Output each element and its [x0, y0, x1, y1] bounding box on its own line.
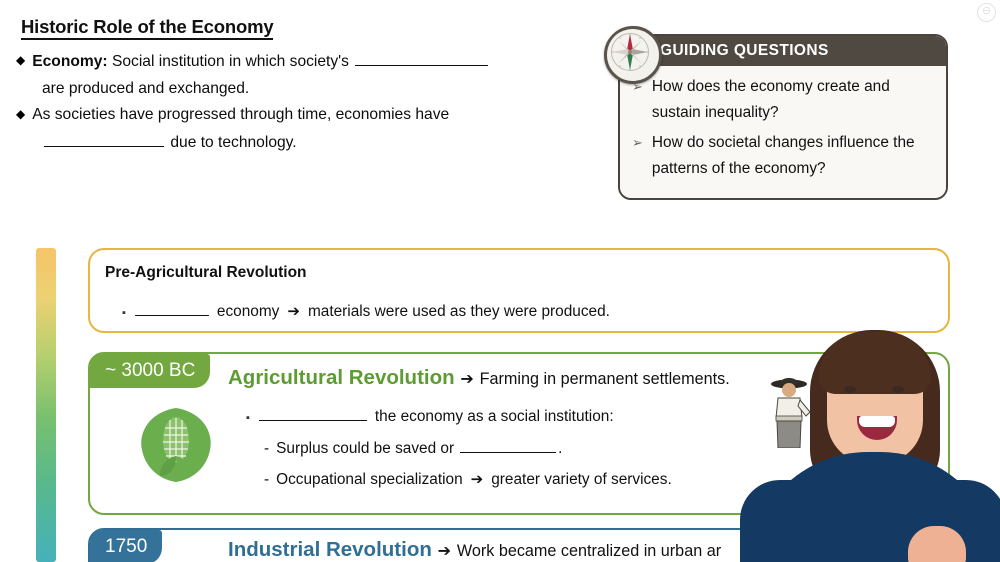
lead-bullet-list: ◆ Economy: Social institution in which s…: [16, 50, 571, 159]
agri-line-specialization-text: Occupational specialization: [276, 471, 463, 489]
diamond-bullet-icon: ◆: [16, 50, 25, 70]
arrow-icon: ➔: [438, 542, 452, 560]
guiding-questions-header: GUIDING QUESTIONS: [620, 36, 946, 66]
agri-line-institution-text: the economy as a social institution:: [375, 408, 614, 426]
lead-item-progress-text: As societies have progressed through tim…: [32, 104, 571, 127]
agri-line-specialization: - Occupational specialization ➔ greater …: [246, 470, 766, 489]
square-bullet-icon: ▪: [122, 307, 126, 319]
agri-line-institution: ▪ the economy as a social institution:: [246, 405, 766, 426]
lead-item-economy-continuation: are produced and exchanged.: [16, 78, 571, 101]
slide-canvas: ⊖ Historic Role of the Economy ◆ Economy…: [0, 0, 1000, 562]
lead-item-economy-text: Economy: Social institution in which soc…: [32, 50, 571, 74]
era-lead-industrial: Work became centralized in urban ar: [457, 542, 721, 560]
guiding-questions-body: ➢ How does the economy create and sustai…: [620, 66, 946, 198]
economy-term-label: Economy:: [32, 53, 107, 70]
era-lead-agricultural: Farming in permanent settlements.: [480, 370, 730, 388]
lead-item-progress: ◆ As societies have progressed through t…: [16, 104, 571, 127]
fill-blank-3[interactable]: [135, 300, 209, 316]
page-title: Historic Role of the Economy: [21, 17, 273, 40]
corn-wreath-icon: [130, 396, 222, 488]
guiding-question-text: How does the economy create and sustain …: [652, 74, 934, 127]
guiding-question-item: ➢ How does the economy create and sustai…: [632, 74, 934, 127]
lead-item-progress-tail: due to technology.: [170, 134, 296, 151]
fill-blank-2[interactable]: [44, 131, 164, 147]
agri-line-surplus: - Surplus could be saved or .: [246, 438, 766, 459]
pre-agri-line-text: economy: [217, 303, 279, 321]
arrow-icon: ➔: [287, 302, 300, 320]
arrow-icon: ➔: [460, 370, 474, 388]
pre-agri-line-tail: materials were used as they were produce…: [308, 303, 610, 321]
square-bullet-icon: ▪: [246, 412, 250, 424]
timeline-gradient-bar: [36, 248, 56, 562]
era-title-pre-agricultural: Pre-Agricultural Revolution: [105, 264, 307, 282]
agri-line-surplus-text: Surplus could be saved or: [276, 440, 454, 458]
circle-badge-icon[interactable]: ⊖: [977, 3, 996, 22]
arrow-icon: ➔: [471, 470, 484, 488]
economy-definition-text: Social institution in which society's: [112, 53, 349, 70]
era-heading-agricultural: Agricultural Revolution ➔ Farming in per…: [228, 368, 730, 389]
era-lines-agricultural: ▪ the economy as a social institution: -…: [246, 405, 766, 501]
agri-line-specialization-tail: greater variety of services.: [491, 471, 671, 489]
fill-blank-1[interactable]: [355, 50, 488, 66]
lead-item-progress-continuation: due to technology.: [16, 131, 571, 155]
compass-icon: [604, 26, 662, 84]
era-title-industrial: Industrial Revolution: [228, 538, 432, 561]
era-bullet-pre-agricultural: ▪ economy ➔ materials were used as they …: [122, 300, 610, 321]
guiding-question-item: ➢ How do societal changes influence the …: [632, 130, 934, 183]
lead-item-economy: ◆ Economy: Social institution in which s…: [16, 50, 571, 74]
diamond-bullet-icon: ◆: [16, 104, 25, 124]
era-title-agricultural: Agricultural Revolution: [228, 366, 455, 389]
dash-bullet-icon: -: [264, 471, 269, 489]
guiding-question-text: How do societal changes influence the pa…: [652, 130, 934, 183]
dash-bullet-icon: -: [264, 440, 269, 458]
era-tab-agricultural: ~ 3000 BC: [90, 354, 210, 388]
guiding-questions-card: GUIDING QUESTIONS ➢ How does the economy…: [618, 34, 948, 200]
era-tab-industrial: 1750: [90, 530, 162, 562]
fill-blank-5[interactable]: [460, 438, 556, 454]
fill-blank-4[interactable]: [259, 405, 367, 421]
era-heading-industrial: Industrial Revolution ➔ Work became cent…: [228, 540, 721, 561]
arrow-bullet-icon: ➢: [632, 130, 643, 156]
agri-line-surplus-tail: .: [558, 440, 562, 458]
